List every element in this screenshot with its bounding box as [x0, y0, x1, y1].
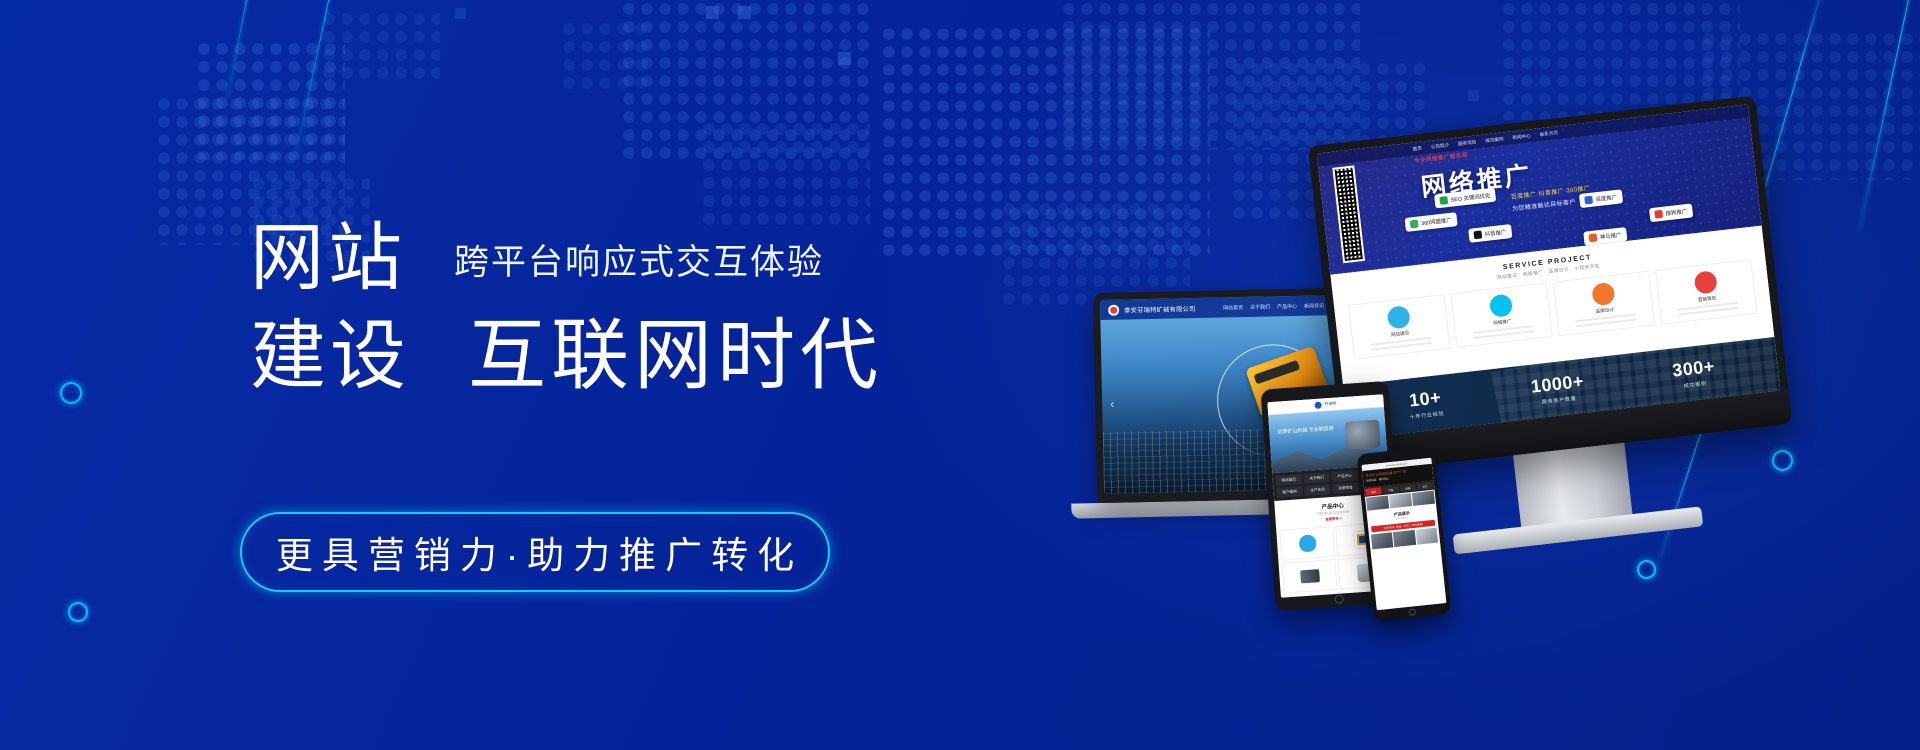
- monitor-tag-chip: 百度推广: [1579, 189, 1623, 208]
- service-card-title: 品牌设计: [1595, 307, 1614, 315]
- service-icon: [1591, 282, 1615, 306]
- device-mockup-group: 泰安芬瑞特矿械有限公司 网站首页 关于我们 产品中心 新闻资讯 客户案例 联系我…: [1080, 120, 1900, 640]
- headline-row-1: 网站 跨平台响应式交互体验: [250, 215, 890, 301]
- tablet-home-button-icon: [1334, 594, 1344, 604]
- monitor-nav-item: 服务项目: [1458, 139, 1477, 147]
- monitor-tag-chip: 搜狗推广: [1649, 203, 1693, 222]
- laptop-nav-item: 新闻资讯: [1304, 302, 1324, 309]
- monitor-tag-label: 抖音推广: [1484, 228, 1506, 238]
- monitor-tag-chip: 抖音推广: [1468, 224, 1512, 243]
- monitor-stat-item: 300+ 成功案例: [1671, 356, 1717, 391]
- monitor-site-nav: 首页 公司简介 服务项目 成功案例 新闻中心 联系方式: [1317, 104, 1750, 166]
- tablet-nav-item: 网站首页: [1275, 474, 1302, 486]
- tablet-nav-item: 关于我们: [1303, 472, 1330, 484]
- service-icon: [1386, 305, 1410, 329]
- tablet-site-brand: 芬瑞特: [1324, 400, 1336, 407]
- laptop-nav-item: 网站首页: [1223, 304, 1243, 311]
- monitor-nav-item: 公司简介: [1430, 142, 1449, 150]
- tagline-text: 更具营销力·助力推广转化: [267, 525, 803, 579]
- monitor-tag-label: 百度推广: [1595, 193, 1617, 203]
- stat-number: 10+: [1407, 387, 1444, 412]
- monitor-tag-label: 神马推广: [1599, 231, 1621, 241]
- decor-circle-2: [68, 602, 88, 622]
- monitor-stat-item: 1000+ 服务客户数量: [1530, 371, 1586, 407]
- tag-dot-icon: [1654, 210, 1663, 219]
- laptop-nav-item: 产品中心: [1277, 302, 1297, 309]
- tag-dot-icon: [1439, 196, 1448, 205]
- phone-product-thumb: [1371, 532, 1394, 549]
- service-card-title: 网络推广: [1493, 319, 1512, 327]
- monitor-nav-item: 成功案例: [1485, 136, 1504, 144]
- product-thumb: [1298, 535, 1316, 553]
- product-thumb: [1300, 569, 1320, 583]
- tablet-hero-caption: 优质矿山机械 专业制造商: [1277, 425, 1334, 437]
- phone-product-thumb: [1393, 530, 1416, 547]
- monitor-tag-label: 搜狗推广: [1665, 207, 1687, 217]
- headline-block: 网站 跨平台响应式交互体验 建设 互联网时代: [250, 215, 890, 401]
- hero-banner: 网站 跨平台响应式交互体验 建设 互联网时代 更具营销力·助力推广转化 泰安芬瑞…: [0, 0, 1920, 750]
- stat-caption: 十年行业经验: [1409, 410, 1444, 421]
- monitor-service-card: 网站建设: [1348, 294, 1451, 360]
- laptop-site-logo-icon: [1108, 304, 1119, 315]
- phone-thumb: [1366, 496, 1389, 511]
- monitor-nav-item: 首页: [1412, 145, 1422, 152]
- phone-thumb: [1389, 493, 1412, 508]
- headline-line1: 网站: [250, 215, 406, 301]
- monitor-qr-code: [1332, 165, 1365, 263]
- monitor-service-card: 网络推广: [1450, 282, 1553, 348]
- headline-line2: 建设: [250, 314, 410, 400]
- diagonal-line-2: [295, 0, 385, 156]
- tag-dot-icon: [1473, 230, 1482, 239]
- headline-row-2: 建设 互联网时代: [250, 309, 890, 401]
- monitor-nav-item: 联系方式: [1539, 130, 1558, 138]
- laptop-nav-item: 关于我们: [1250, 303, 1270, 310]
- phone-screen: www.example.com 专业矿山机械设备生产厂家 品质保证 · 服务至上…: [1362, 458, 1447, 611]
- tablet-site-logo-icon: [1314, 401, 1321, 408]
- tablet-nav-item: 产品中心: [1331, 470, 1358, 482]
- phone-thumb: [1412, 491, 1435, 506]
- tablet-nav-item: 客户案例: [1276, 486, 1303, 498]
- stat-number: 300+: [1671, 356, 1716, 382]
- tag-dot-icon: [1584, 196, 1593, 205]
- tag-dot-icon: [1589, 233, 1598, 242]
- decor-circle-1: [60, 382, 82, 404]
- tagline-pill: 更具营销力·助力推广转化: [240, 512, 830, 592]
- monitor-nav-item: 新闻中心: [1512, 133, 1531, 141]
- laptop-carousel-prev-icon: ‹: [1110, 397, 1114, 411]
- phone-mockup: www.example.com 专业矿山机械设备生产厂家 品质保证 · 服务至上…: [1356, 446, 1451, 621]
- service-icon: [1488, 294, 1512, 318]
- tablet-nav-item: 资质荣誉: [1332, 482, 1359, 494]
- headline-right: 互联网时代: [468, 309, 883, 401]
- tablet-nav-item: 生产车间: [1304, 484, 1331, 496]
- tablet-hero-product-image: [1345, 420, 1381, 450]
- service-card-title: 营销策划: [1698, 295, 1717, 303]
- diagonal-line-1: [227, 0, 285, 98]
- monitor-service-card: 营销策划: [1655, 259, 1758, 325]
- tag-dot-icon: [1410, 220, 1419, 229]
- service-card-title: 网站建设: [1391, 330, 1410, 338]
- monitor-tag-label: SEO 关键词优化: [1450, 191, 1490, 203]
- service-icon: [1693, 270, 1717, 294]
- phone-body: www.example.com 专业矿山机械设备生产厂家 品质保证 · 服务至上…: [1356, 446, 1451, 621]
- monitor-stat-item: 10+ 十年行业经验: [1407, 387, 1445, 421]
- laptop-site-brand: 泰安芬瑞特矿械有限公司: [1124, 304, 1196, 314]
- monitor-service-card: 品牌设计: [1553, 271, 1656, 337]
- monitor-tag-label: 360网盟推广: [1421, 216, 1452, 227]
- monitor-tag-chip: 360网盟推广: [1404, 212, 1457, 232]
- monitor-tag-chip: SEO 关键词优化: [1434, 188, 1496, 209]
- headline-subtitle: 跨平台响应式交互体验: [454, 234, 824, 301]
- tablet-product-cell: [1282, 559, 1338, 594]
- tablet-product-cell: [1279, 526, 1335, 561]
- phone-home-button-icon: [1408, 608, 1416, 616]
- phone-product-thumb: [1415, 528, 1438, 545]
